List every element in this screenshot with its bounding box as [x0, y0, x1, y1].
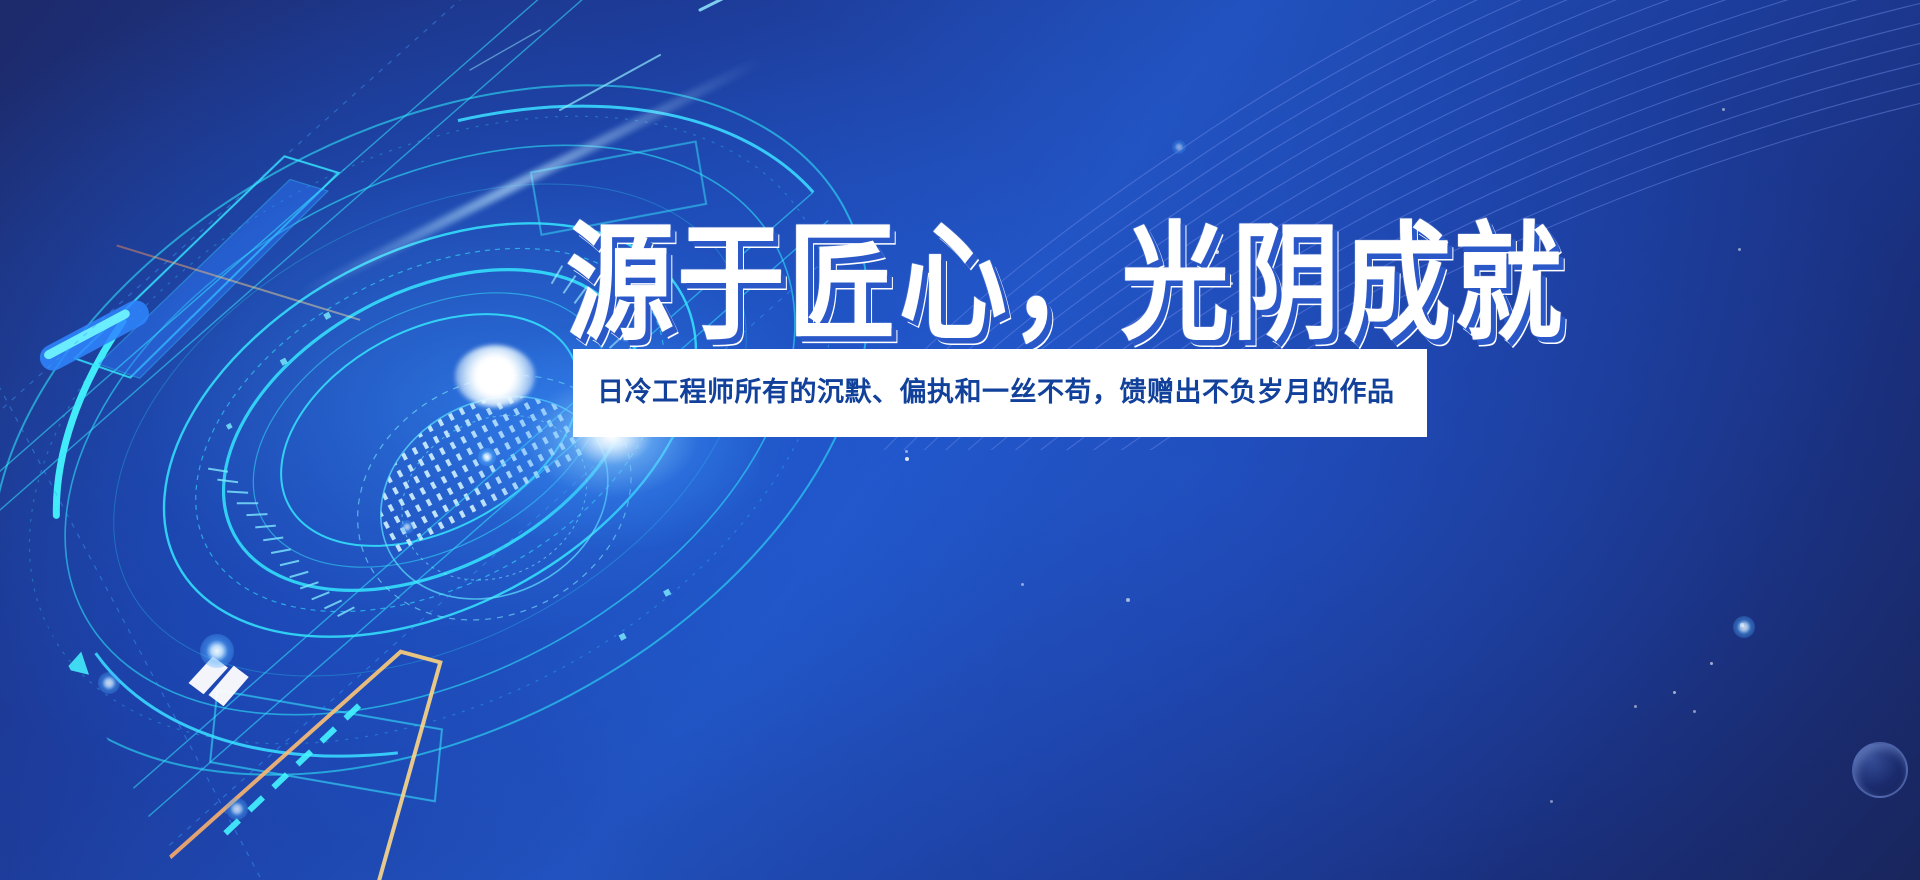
- glow-dot: [98, 672, 120, 694]
- glow-dot: [226, 798, 248, 820]
- sparkle-dot: [905, 450, 908, 453]
- glow-dot: [1172, 140, 1186, 154]
- glow-dot: [400, 520, 414, 534]
- glow-dot: [478, 448, 496, 466]
- page-title: 源于匠心，光阴成就: [566, 214, 1446, 365]
- glow-dot: [1733, 616, 1755, 638]
- bubble-circle: [1852, 742, 1908, 798]
- sparkle-dot: [1126, 598, 1130, 602]
- sparkle-dot: [1738, 248, 1741, 251]
- sparkle-dot: [1722, 108, 1725, 111]
- sparkle-dot: [1710, 662, 1713, 665]
- sparkle-dot: [1693, 710, 1696, 713]
- sparkle-dot: [1550, 800, 1553, 803]
- banner-stage: 源于匠心，光阴成就 日冷工程师所有的沉默、偏执和一丝不苟，馈赠出不负岁月的作品: [0, 0, 1920, 880]
- subtitle-bar: 日冷工程师所有的沉默、偏执和一丝不苟，馈赠出不负岁月的作品: [573, 349, 1427, 437]
- light-burst-core: [455, 345, 535, 407]
- sparkle-dot: [1021, 583, 1024, 586]
- subtitle-text: 日冷工程师所有的沉默、偏执和一丝不苟，馈赠出不负岁月的作品: [573, 376, 1395, 410]
- glow-dot: [200, 634, 234, 668]
- sparkle-dot: [905, 457, 909, 461]
- sparkle-dot: [1673, 691, 1676, 694]
- sparkle-dot: [1634, 705, 1637, 708]
